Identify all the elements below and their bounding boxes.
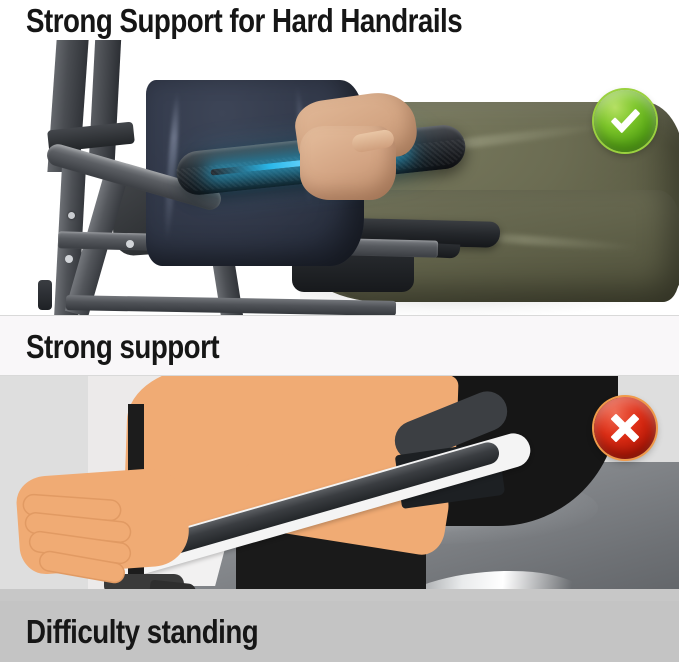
caption-difficulty-standing: Difficulty standing: [26, 615, 258, 648]
cross-badge: [594, 397, 656, 459]
check-badge: [594, 90, 656, 152]
product-comparison-infographic: Strong Support for Hard Handrails: [0, 0, 679, 662]
frame-rivet: [65, 255, 73, 263]
frame-rivet: [126, 240, 134, 248]
check-icon: [605, 101, 645, 141]
illustration-floor: [0, 589, 679, 601]
caption-band-difficulty-standing: Difficulty standing: [0, 601, 679, 662]
caption-strong-support: Strong support: [26, 330, 219, 363]
panel-illustration-difficulty-standing: [0, 376, 679, 601]
support-tube-rivet: [68, 212, 75, 219]
caption-band-strong-support: Strong support: [0, 316, 679, 376]
close-icon: [606, 409, 644, 447]
panel-photo-strong-support: [0, 40, 679, 316]
chair-foot-cap: [38, 280, 52, 310]
page-title: Strong Support for Hard Handrails: [26, 4, 462, 37]
title-band: Strong Support for Hard Handrails: [0, 0, 679, 40]
